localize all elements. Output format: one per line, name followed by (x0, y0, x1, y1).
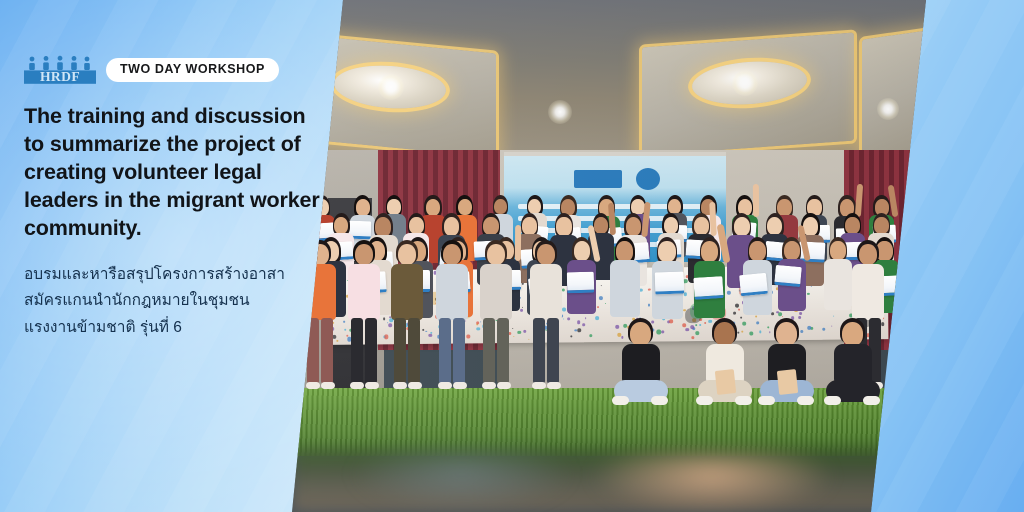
participant-head (664, 217, 678, 234)
participant-shoe (735, 396, 752, 405)
held-card (777, 369, 798, 395)
participant-shoe (438, 382, 452, 389)
participant-head (776, 322, 797, 346)
participant-head (714, 322, 735, 346)
participant-leg (439, 318, 451, 384)
participant-shoe (497, 382, 511, 389)
copy-panel: HRDF TWO DAY WORKSHOP The training and d… (0, 0, 350, 512)
participant-head (487, 244, 505, 265)
participant-head (443, 244, 461, 265)
participant-torso (622, 344, 660, 384)
participant-shoe (797, 396, 814, 405)
participant-head (355, 244, 373, 265)
participant-shoe (696, 396, 713, 405)
certificate (774, 265, 802, 287)
participant-head (375, 217, 391, 236)
participant-head (594, 217, 608, 234)
participant-head (537, 244, 555, 265)
participant-leg (497, 318, 509, 384)
subtitle-line-2: สมัครแกนนำนักกฎหมายในชุมชน (24, 288, 324, 315)
ceiling-spotlight (548, 100, 572, 124)
participant-head (522, 217, 537, 235)
seated-participant (692, 318, 756, 414)
participant-torso (852, 264, 884, 320)
participant-shoe (482, 382, 496, 389)
participant-shoe (532, 382, 546, 389)
participant-head (842, 322, 863, 346)
participant-head (556, 217, 572, 236)
participant-shoe (863, 396, 880, 405)
participant-head (458, 199, 472, 216)
hrdf-logo-wordmark: HRDF (40, 69, 80, 84)
subtitle-line-3: แรงงานข้ามชาติ รุ่นที่ 6 (24, 315, 324, 342)
participant-torso (834, 344, 872, 384)
foreground-blur-cool (352, 450, 572, 510)
participant-leg (547, 318, 559, 384)
participant-raised-arm (515, 225, 522, 261)
participant-head (409, 217, 423, 234)
participant-shoe (824, 396, 841, 405)
seated-participant (754, 318, 818, 414)
participant-head (767, 217, 782, 235)
participant-shoe (350, 382, 364, 389)
participant-torso (348, 264, 380, 320)
participant-head (616, 241, 633, 261)
participant-torso (530, 264, 562, 320)
subtitle-thai: อบรมและหารือสรุปโครงการสร้างอาสา สมัครแก… (24, 262, 324, 342)
participant-head (398, 244, 416, 265)
participant-torso (480, 264, 512, 320)
projection-screen-logos (542, 168, 692, 190)
certificate (567, 272, 595, 293)
standing-participant (344, 240, 384, 400)
seated-participant (608, 318, 672, 414)
participant-head (387, 199, 400, 215)
ceiling-spotlight (378, 74, 404, 100)
participant-shoe (365, 382, 379, 389)
event-photo-content (292, 0, 926, 512)
participant-head (859, 244, 877, 265)
ceiling-spotlight (877, 98, 899, 120)
workshop-badge: TWO DAY WORKSHOP (106, 58, 279, 82)
participant-head (845, 217, 859, 234)
participant-shoe (651, 396, 668, 405)
certificate (739, 273, 768, 296)
participant-leg (394, 318, 406, 384)
participant-head (784, 241, 800, 260)
participant-torso (610, 260, 640, 316)
held-card (715, 369, 736, 395)
subtitle-line-1: อบรมและหารือสรุปโครงการสร้างอาสา (24, 262, 324, 289)
certificate (655, 272, 685, 295)
participant (565, 238, 597, 357)
participant-head (749, 241, 765, 261)
partner-logo-icon (636, 168, 660, 190)
certificate (694, 276, 724, 299)
participant-leg (408, 318, 420, 384)
participant-torso (436, 264, 468, 320)
participant-leg (533, 318, 545, 384)
standing-participant (434, 240, 470, 400)
participant-leg (351, 318, 363, 384)
ceiling-spotlight (732, 70, 758, 96)
participant-leg (453, 318, 465, 384)
hrdf-logo-icon: HRDF (24, 55, 96, 85)
participant-head (658, 241, 675, 262)
participant-shoe (612, 396, 629, 405)
participant-raised-arm (855, 184, 863, 218)
participant-head (874, 217, 889, 234)
participant-shoe (408, 382, 422, 389)
seated-participant (820, 318, 884, 414)
page-title: The training and discussion to summarize… (24, 103, 324, 243)
standing-participant (478, 240, 514, 400)
hrdf-logo-icon (574, 170, 622, 188)
participant-head (574, 241, 590, 260)
participant-shoe (393, 382, 407, 389)
participant-head (701, 241, 718, 262)
participant-leg (483, 318, 495, 384)
participant-head (626, 217, 641, 235)
participant-head (830, 241, 845, 260)
participant-torso (391, 264, 423, 320)
banner-paint-mark (686, 328, 689, 331)
participant-head (483, 217, 498, 235)
participant-leg (365, 318, 377, 384)
participant-shoe (758, 396, 775, 405)
participant-raised-arm (753, 184, 759, 217)
participant-head (630, 322, 651, 346)
participant-head (444, 217, 459, 235)
participant-shoe (547, 382, 561, 389)
participant-head (734, 217, 750, 236)
brand-row: HRDF TWO DAY WORKSHOP (24, 56, 326, 84)
participant-shoe (453, 382, 467, 389)
participant-head (694, 217, 709, 235)
standing-participant (388, 240, 426, 400)
standing-participant (528, 240, 564, 400)
foreground-blur-warm (592, 452, 832, 512)
